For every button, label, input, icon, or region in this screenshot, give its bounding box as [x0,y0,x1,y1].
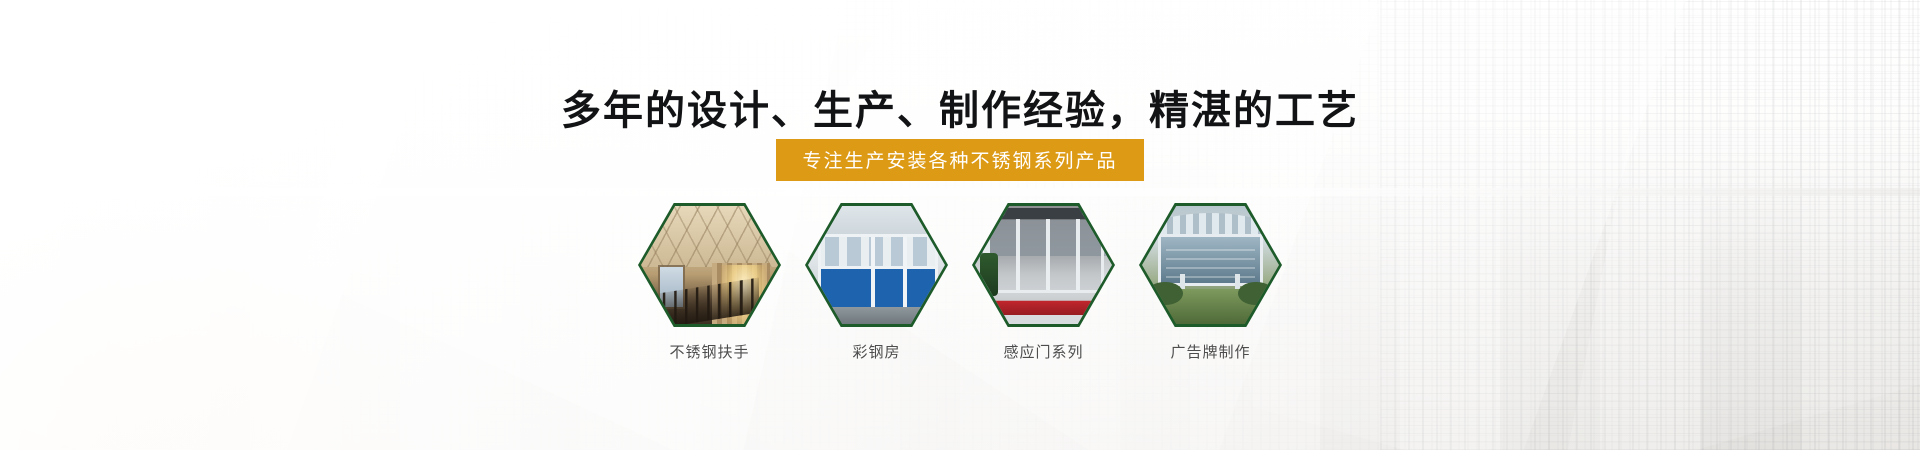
hexagon-frame[interactable] [638,203,781,327]
product-thumbnail[interactable]: 彩钢房 [804,203,949,362]
product-thumbnail[interactable]: 不锈钢扶手 [637,203,782,362]
promo-banner: 多年的设计、生产、制作经验，精湛的工艺 专注生产安装各种不锈钢系列产品 不锈钢扶… [0,0,1920,450]
banner-headline: 多年的设计、生产、制作经验，精湛的工艺 [0,78,1920,136]
product-thumbnail[interactable]: 广告牌制作 [1138,203,1283,362]
hexagon-frame[interactable] [805,203,948,327]
thumbnail-label: 不锈钢扶手 [669,341,749,362]
hexagon-frame[interactable] [972,203,1115,327]
thumbnail-label: 感应门系列 [1003,341,1083,362]
thumbnail-label: 彩钢房 [852,341,900,362]
banner-content: 多年的设计、生产、制作经验，精湛的工艺 专注生产安装各种不锈钢系列产品 不锈钢扶… [0,0,1920,450]
banner-subtitle-badge: 专注生产安装各种不锈钢系列产品 [776,139,1143,181]
stainless-handrail-photo [641,206,778,324]
product-thumbnail[interactable]: 感应门系列 [971,203,1116,362]
color-steel-cabin-photo [808,206,945,324]
hexagon-frame[interactable] [1139,203,1282,327]
billboard-photo [1142,206,1279,324]
banner-subtitle-wrap: 专注生产安装各种不锈钢系列产品 [0,139,1920,181]
product-thumbnail-row: 不锈钢扶手 彩钢房 [0,203,1920,362]
sensor-door-photo [975,206,1112,324]
thumbnail-label: 广告牌制作 [1170,341,1250,362]
